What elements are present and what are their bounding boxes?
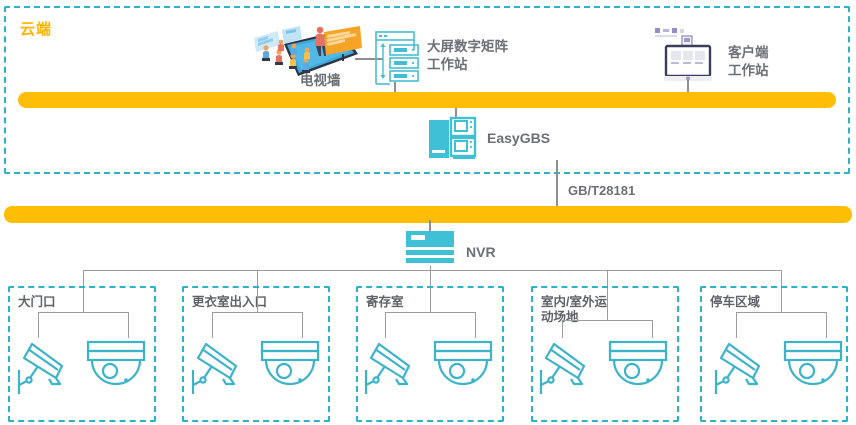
- nvr-device-icon: [406, 231, 454, 265]
- tv-wall-label: 电视墙: [300, 72, 341, 90]
- camera-zone-5-label: 停车区域: [710, 295, 760, 310]
- nvr-bus-bar: [4, 206, 852, 223]
- client-workstation-label: 客户端 工作站: [728, 44, 769, 80]
- cloud-bus-bar: [18, 92, 836, 108]
- architecture-diagram: 云端: [0, 0, 856, 425]
- camera-zone-2-label: 更衣室出入口: [192, 295, 267, 310]
- easygbs-server-icon: [429, 118, 475, 160]
- camera-zone-3-label: 寄存室: [366, 295, 404, 310]
- dome-camera-icon: [783, 340, 843, 394]
- cloud-zone-container: [4, 6, 850, 174]
- bullet-camera-icon: [363, 340, 415, 396]
- bullet-camera-icon: [713, 340, 765, 396]
- nvr-label: NVR: [466, 244, 496, 261]
- distribution-bus: [83, 270, 782, 271]
- dome-camera-icon: [86, 340, 146, 394]
- camera-zone-1-label: 大门口: [18, 295, 56, 310]
- dome-camera-icon: [608, 340, 668, 394]
- server-rack-icon: [374, 30, 422, 92]
- bullet-camera-icon: [16, 340, 68, 396]
- desktop-monitor-icon: [655, 28, 719, 86]
- dome-camera-icon: [260, 340, 320, 394]
- protocol-label: GB/T28181: [568, 182, 635, 199]
- matrix-workstation-label: 大屏数字矩阵 工作站: [427, 38, 508, 74]
- cloud-zone-label: 云端: [20, 18, 52, 39]
- bullet-camera-icon: [538, 340, 590, 396]
- dome-camera-icon: [433, 340, 493, 394]
- connector-gbt28181: [556, 160, 558, 208]
- bullet-camera-icon: [190, 340, 242, 396]
- easygbs-label: EasyGBS: [487, 130, 550, 147]
